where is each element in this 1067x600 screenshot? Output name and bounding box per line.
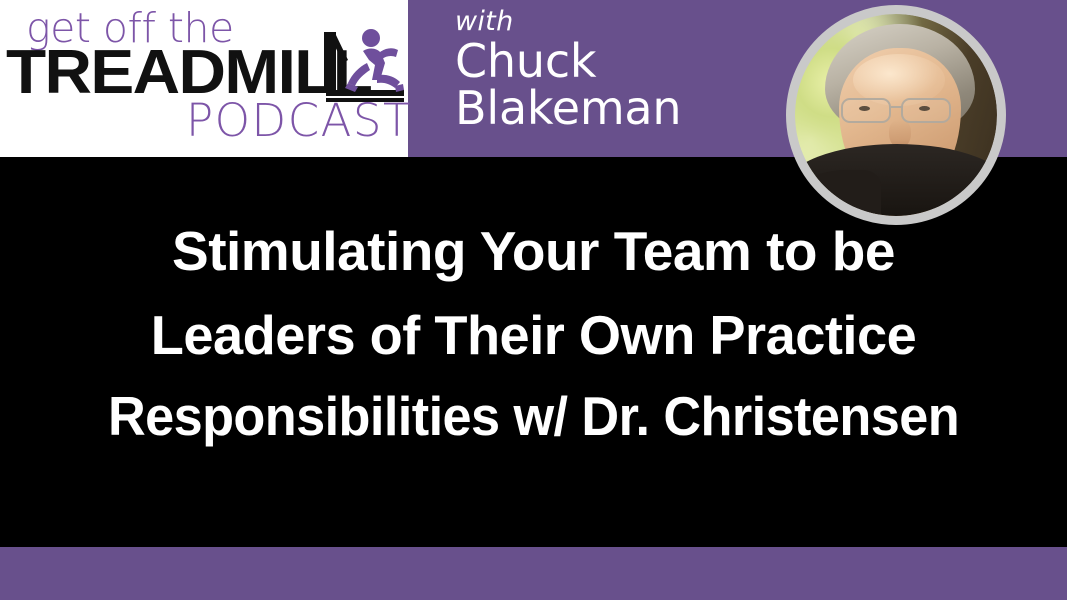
host-prefix-label: with [455,8,785,36]
episode-title-line-1: Stimulating Your Team to be [0,224,1067,279]
podcast-logo: get off the TREADMILL PODCAST [0,0,408,157]
host-first-name: Chuck [455,38,785,85]
episode-title-line-2: Leaders of Their Own Practice [8,308,1059,363]
episode-title-line-3: Responsibilities w/ Dr. Christensen [27,389,1041,444]
podcast-cover-image: get off the TREADMILL PODCAST [0,0,1067,600]
photo-shirt [795,144,997,216]
episode-title: Stimulating Your Team to be Leaders of T… [0,224,1067,444]
footer-band [0,547,1067,600]
photo-shirt-shoulder [795,170,881,216]
host-name: Chuck Blakeman [455,38,785,132]
host-avatar [786,5,1006,225]
treadmill-runner-icon [314,26,410,112]
photo-lens-right [901,98,951,123]
host-last-name: Blakeman [455,85,785,132]
host-block: with Chuck Blakeman [455,8,785,132]
logo-panel: get off the TREADMILL PODCAST [0,0,408,157]
photo-lens-left [841,98,891,123]
host-photo [795,14,997,216]
